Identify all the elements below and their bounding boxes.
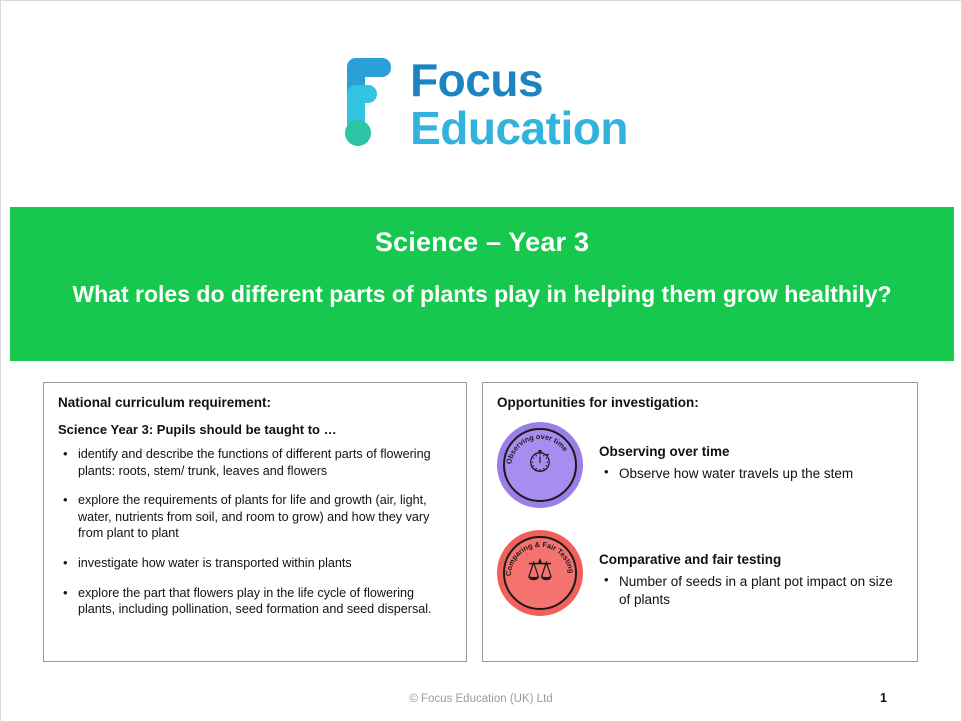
logo-area: Focus Education: [1, 1, 961, 206]
observing-over-time-badge-icon: Observing over time ⏱: [497, 422, 583, 508]
stopwatch-magnifier-icon: ⏱: [497, 448, 583, 478]
focus-f-logo-icon: [334, 58, 396, 150]
footer-copyright: © Focus Education (UK) Ltd: [1, 693, 961, 705]
investigation-item-fair-testing: Comparing & Fair Testing ⚖ Comparative a…: [497, 530, 903, 616]
curriculum-bullet-list: identify and describe the functions of d…: [58, 446, 452, 618]
investigation-item-observing: Observing over time ⏱ Observing over tim…: [497, 422, 903, 508]
investigation-bullet-list: Observe how water travels up the stem: [599, 465, 853, 483]
brand-name-line2: Education: [410, 105, 628, 151]
curriculum-subtitle: Science Year 3: Pupils should be taught …: [58, 422, 452, 437]
list-item: investigate how water is transported wit…: [58, 555, 452, 572]
brand-name: Focus Education: [410, 57, 628, 151]
list-item: explore the requirements of plants for l…: [58, 492, 452, 542]
investigation-item-title: Observing over time: [599, 444, 853, 459]
brand-logo: Focus Education: [334, 57, 628, 151]
list-item: identify and describe the functions of d…: [58, 446, 452, 479]
page-number: 1: [880, 691, 887, 705]
list-item: Number of seeds in a plant pot impact on…: [599, 573, 903, 608]
curriculum-panel: National curriculum requirement: Science…: [43, 382, 467, 662]
title-banner: Science – Year 3 What roles do different…: [10, 207, 954, 361]
balance-scales-icon: ⚖: [497, 556, 583, 586]
comparative-fair-testing-badge-icon: Comparing & Fair Testing ⚖: [497, 530, 583, 616]
investigation-panel: Opportunities for investigation: Observi…: [482, 382, 918, 662]
investigation-panel-title: Opportunities for investigation:: [497, 395, 903, 410]
subject-title: Science – Year 3: [10, 227, 954, 258]
investigation-item-title: Comparative and fair testing: [599, 552, 903, 567]
comparative-fair-testing-text: Comparative and fair testing Number of s…: [599, 530, 903, 612]
list-item: Observe how water travels up the stem: [599, 465, 853, 483]
brand-name-line1: Focus: [410, 57, 628, 103]
observing-over-time-text: Observing over time Observe how water tr…: [599, 422, 853, 487]
curriculum-panel-title: National curriculum requirement:: [58, 395, 452, 410]
key-question: What roles do different parts of plants …: [10, 280, 954, 309]
slide-page: Focus Education Science – Year 3 What ro…: [0, 0, 962, 722]
investigation-bullet-list: Number of seeds in a plant pot impact on…: [599, 573, 903, 608]
list-item: explore the part that flowers play in th…: [58, 585, 452, 618]
